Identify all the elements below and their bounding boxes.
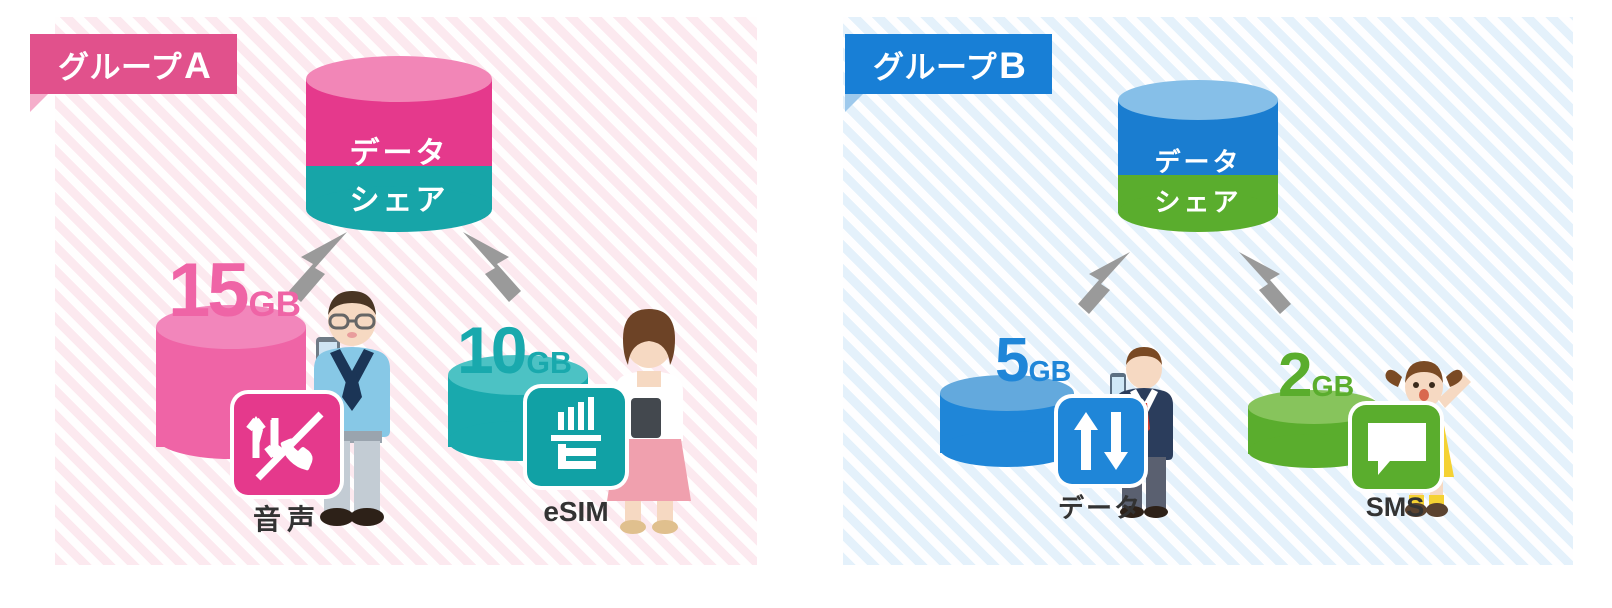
group-b-plan-0-icon-label: データ	[1030, 488, 1170, 525]
group-a-plan-0-amount: 15GB	[168, 253, 301, 329]
group-b-ribbon-text: グループB	[873, 42, 1026, 87]
group-b-plan-1-icon-label: SMS	[1330, 492, 1460, 523]
cylinder-base	[940, 431, 1074, 467]
share-cylinder-bottom-label: シェア	[1118, 182, 1278, 219]
group-a-ribbon: グループA	[30, 34, 237, 94]
group-a-share-cylinder: データ シェア	[306, 56, 492, 232]
group-b-plan-0-amount: 5GB	[995, 330, 1071, 392]
arrow-up-right-b	[1232, 248, 1294, 318]
infographic-canvas: グループA データ シェア 15GB	[0, 0, 1612, 608]
share-cylinder-bottom-label: シェア	[306, 175, 492, 219]
share-cylinder-cap	[306, 56, 492, 102]
esim-icon	[527, 388, 625, 486]
group-b-ribbon: グループB	[845, 34, 1052, 94]
group-b-plan-1-amount: 2GB	[1278, 345, 1354, 407]
arrow-up-right-a	[455, 228, 525, 306]
group-a-plan-1-icon-label: eSIM	[520, 496, 632, 528]
share-cylinder-cap	[1118, 80, 1278, 120]
arrow-up-left-b	[1075, 248, 1137, 318]
group-a-plan-1-amount: 10GB	[457, 317, 572, 383]
group-b-share-cylinder: データ シェア	[1118, 80, 1278, 232]
voice-icon	[234, 394, 340, 495]
sms-icon	[1352, 405, 1440, 489]
group-a-ribbon-text: グループA	[58, 42, 211, 87]
share-cylinder-top-label: データ	[1118, 142, 1278, 179]
share-cylinder-top-label: データ	[306, 128, 492, 172]
group-a-plan-0-icon-label: 音声	[234, 498, 340, 538]
data-icon	[1058, 398, 1144, 484]
